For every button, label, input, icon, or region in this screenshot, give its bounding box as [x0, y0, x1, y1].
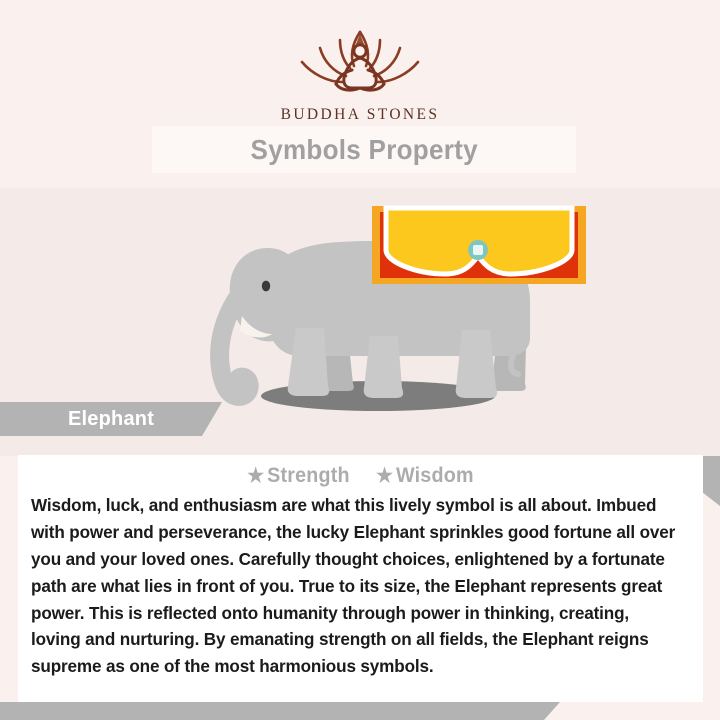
- star-icon: ★: [376, 465, 393, 487]
- brand-logo: BUDDHA STONES: [0, 22, 720, 124]
- symbol-property-card: BUDDHA STONES Symbols Property: [0, 0, 720, 720]
- attribute-list: ★Strength ★Wisdom: [18, 455, 703, 488]
- title-banner: Symbols Property: [152, 126, 576, 173]
- symbol-name-ribbon: Elephant: [0, 402, 222, 436]
- symbol-description: Wisdom, luck, and enthusiasm are what th…: [31, 492, 680, 680]
- star-icon: ★: [247, 465, 264, 487]
- lotus-meditation-icon: [280, 22, 440, 104]
- brand-name: BUDDHA STONES: [0, 106, 720, 124]
- symbol-name: Elephant: [68, 408, 154, 431]
- attribute-strength-label: Strength: [267, 464, 350, 487]
- decor-bar-bottom: [0, 702, 560, 720]
- attribute-wisdom-label: Wisdom: [396, 464, 474, 487]
- attribute-wisdom: ★Wisdom: [376, 463, 474, 488]
- attribute-strength: ★Strength: [247, 463, 350, 488]
- page-title: Symbols Property: [250, 134, 477, 166]
- description-panel: ★Strength ★Wisdom Wisdom, luck, and enth…: [18, 455, 703, 702]
